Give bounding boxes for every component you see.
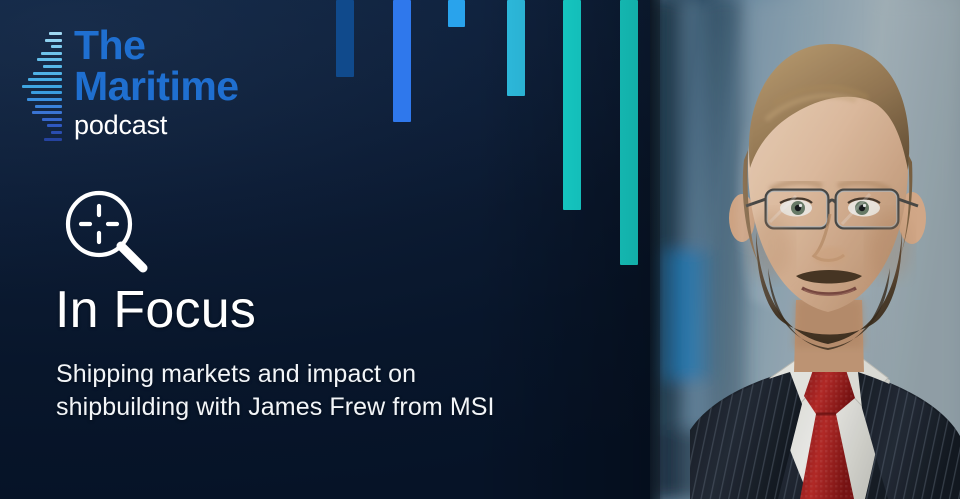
episode-subtitle-line-2: shipbuilding with James Frew from MSI [56,391,596,424]
podcast-cover-art: The Maritime podcast In Focus Shipping m… [0,0,960,499]
waveform-bar-16 [51,131,62,134]
guest-portrait [650,0,960,499]
waveform-bar-4 [41,52,62,55]
brand-line-podcast: podcast [74,112,274,139]
brand-wordmark: The Maritime podcast [74,26,274,139]
waveform-bar-7 [33,72,62,75]
waveform-bar-13 [32,111,62,114]
magnifier-icon [57,186,157,282]
waveform-bar-15 [47,124,62,127]
waveform-bar-12 [35,105,62,108]
waveform-icon [22,32,62,147]
waveform-bar-9 [22,85,62,88]
portrait-left-edge-shade [650,0,664,499]
waveform-bar-17 [44,138,62,141]
waveform-bar-8 [28,78,62,81]
brand-logo[interactable]: The Maritime podcast [22,32,272,150]
brand-line-maritime: Maritime [74,67,274,106]
decorative-bar-2 [393,0,411,122]
page-title: In Focus [55,284,256,336]
decorative-bar-3 [448,0,465,27]
waveform-bar-3 [51,45,62,48]
waveform-bar-14 [42,118,62,121]
decorative-bar-5 [563,0,581,210]
episode-subtitle-line-1: Shipping markets and impact on [56,358,596,391]
waveform-bar-6 [43,65,62,68]
decorative-bar-6 [620,0,638,265]
brand-line-the: The [74,26,274,65]
waveform-bar-10 [31,91,62,94]
decorative-bar-4 [507,0,525,96]
waveform-bar-5 [37,58,62,61]
episode-subtitle: Shipping markets and impact on shipbuild… [56,358,596,425]
waveform-bar-1 [49,32,62,35]
waveform-bar-11 [27,98,62,101]
waveform-bar-2 [45,39,62,42]
decorative-bar-1 [336,0,354,77]
